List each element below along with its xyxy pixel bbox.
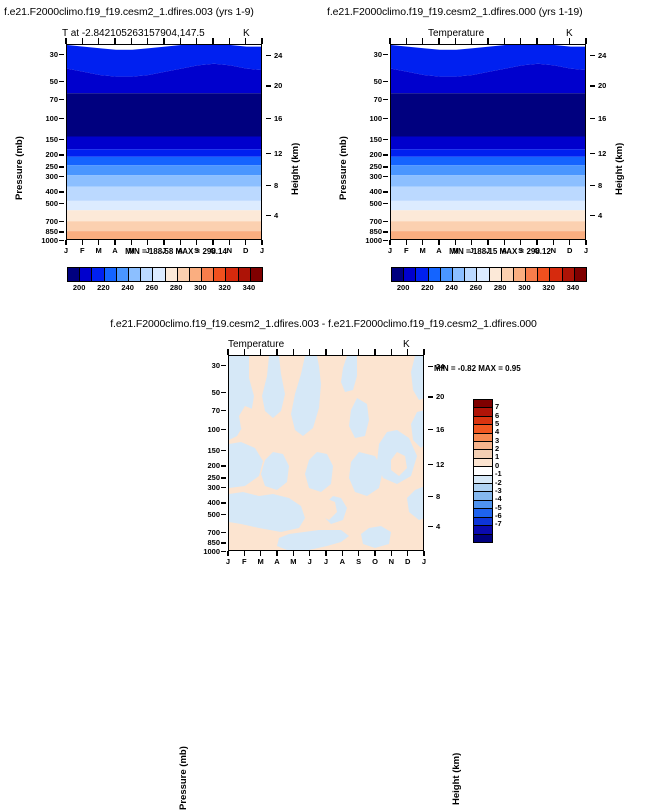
colorbar-tick-label: 300 (512, 283, 536, 292)
colorbar-cell (474, 525, 492, 533)
colorbar-cell (474, 534, 492, 542)
colorbar-cell (474, 407, 492, 415)
colorbar-tick-label: 260 (140, 283, 164, 292)
pressure-tick-mark (221, 365, 226, 366)
contour-band (67, 231, 262, 240)
pressure-tick-label: 1000 (346, 236, 382, 245)
colorbar-tick-label: 240 (440, 283, 464, 292)
pressure-tick-mark (221, 477, 226, 478)
panel-right: Temperature K Pressure (mb) Height (km) … (324, 25, 644, 300)
panel-left-colorbar-labels: 200220240260280300320340 (67, 283, 263, 295)
height-tick-label: 12 (436, 460, 444, 469)
pressure-tick-mark (59, 191, 64, 192)
top-tick-mark (147, 38, 148, 44)
pressure-tick-mark (383, 240, 388, 241)
colorbar-tick-label: 200 (391, 283, 415, 292)
month-tick-mark (438, 240, 439, 245)
colorbar-tick-label: 340 (561, 283, 585, 292)
top-tick-mark (585, 38, 586, 44)
top-tick-mark (407, 349, 408, 355)
month-tick-mark (131, 240, 132, 245)
month-tick-mark (147, 240, 148, 245)
pressure-tick-label: 300 (346, 172, 382, 181)
top-tick-mark (438, 38, 439, 44)
pressure-tick-label: 850 (346, 227, 382, 236)
colorbar-cell (513, 268, 525, 281)
pressure-tick-mark (221, 542, 226, 543)
pressure-tick-label: 850 (22, 227, 58, 236)
top-tick-mark (212, 38, 213, 44)
height-tick-label: 8 (436, 492, 440, 501)
month-tick-mark (293, 551, 294, 556)
height-tick-mark (428, 526, 433, 527)
pressure-tick-label: 400 (184, 498, 220, 507)
colorbar-cell (474, 508, 492, 516)
contour-band (67, 93, 262, 136)
pressure-tick-mark (59, 139, 64, 140)
temperature-contour-field (391, 45, 586, 240)
contour-band (67, 165, 262, 175)
colorbar-tick-label: 200 (67, 283, 91, 292)
month-label: N (384, 557, 398, 566)
pressure-tick-mark (59, 166, 64, 167)
colorbar-tick-label: 240 (116, 283, 140, 292)
pressure-tick-label: 100 (346, 114, 382, 123)
month-tick-mark (163, 240, 164, 245)
height-tick-mark (266, 153, 271, 154)
pressure-tick-label: 500 (346, 199, 382, 208)
top-tick-mark (422, 38, 423, 44)
panel-right-colorbar[interactable] (391, 267, 587, 282)
colorbar-cell (165, 268, 177, 281)
panel-diff-y2ticks: 2420161284 (428, 355, 458, 551)
colorbar-cell (440, 268, 452, 281)
month-tick-mark (389, 240, 390, 245)
contour-band (67, 157, 262, 165)
temperature-contour-field (67, 45, 262, 240)
contour-band (391, 93, 586, 136)
top-tick-mark (536, 38, 537, 44)
month-tick-mark (260, 551, 261, 556)
contour-band (391, 175, 586, 187)
pressure-tick-label: 300 (184, 483, 220, 492)
top-tick-mark (163, 38, 164, 44)
pressure-tick-mark (383, 139, 388, 140)
month-tick-mark (65, 240, 66, 245)
colorbar-tick-label: 340 (237, 283, 261, 292)
contour-band (391, 201, 586, 210)
month-label: J (303, 557, 317, 566)
contour-band (391, 221, 586, 231)
pressure-tick-mark (221, 429, 226, 430)
height-tick-label: 16 (274, 114, 282, 123)
height-tick-label: 16 (598, 114, 606, 123)
month-label: J (417, 557, 431, 566)
top-axis-ticks (66, 37, 262, 44)
panel-diff-colorbar-labels: 76543210-1-2-3-4-5-6-7 (494, 399, 518, 541)
colorbar-cell (562, 268, 574, 281)
colorbar-cell (574, 268, 586, 281)
pressure-tick-mark (383, 221, 388, 222)
month-tick-mark (325, 551, 326, 556)
panel-diff-xticks: JFMAMJJASONDJ (228, 551, 424, 567)
month-tick-mark (229, 240, 230, 245)
contour-band (391, 187, 586, 201)
pressure-tick-label: 100 (22, 114, 58, 123)
top-tick-mark (245, 38, 246, 44)
top-axis-ticks (228, 348, 424, 355)
pressure-tick-mark (59, 99, 64, 100)
pressure-tick-label: 1000 (184, 547, 220, 556)
panel-diff: f.e21.F2000climo.f19_f19.cesm2_1.dfires.… (0, 315, 647, 567)
pressure-tick-label: 150 (22, 135, 58, 144)
month-tick-mark (309, 551, 310, 556)
panel-diff-header: f.e21.F2000climo.f19_f19.cesm2_1.dfires.… (0, 318, 647, 330)
pressure-tick-mark (221, 551, 226, 552)
colorbar-cell (140, 268, 152, 281)
panel-diff-y2label: Height (km) (451, 753, 462, 805)
colorbar-cell (474, 475, 492, 483)
panel-right-colorbar-labels: 200220240260280300320340 (391, 283, 587, 295)
colorbar-cell (474, 491, 492, 499)
colorbar-cell (474, 517, 492, 525)
month-tick-mark (114, 240, 115, 245)
pressure-tick-mark (221, 465, 226, 466)
top-tick-mark (309, 349, 310, 355)
height-tick-mark (266, 185, 271, 186)
contour-band (67, 175, 262, 187)
month-tick-mark (407, 551, 408, 556)
pressure-tick-mark (221, 450, 226, 451)
panel-left-yticks: 3050701001502002503004005007008501000 (26, 44, 64, 240)
panel-right-yticks: 3050701001502002503004005007008501000 (350, 44, 388, 240)
pressure-tick-mark (221, 487, 226, 488)
month-label: A (335, 557, 349, 566)
panel-right-plot[interactable] (390, 44, 586, 240)
top-tick-mark (569, 38, 570, 44)
colorbar-tick-label: 280 (164, 283, 188, 292)
contour-band (391, 231, 586, 240)
top-tick-mark (196, 38, 197, 44)
height-tick-mark (428, 429, 433, 430)
height-tick-mark (266, 118, 271, 119)
panel-left-plot[interactable] (66, 44, 262, 240)
month-label: O (368, 557, 382, 566)
pressure-tick-mark (59, 203, 64, 204)
pressure-tick-label: 400 (346, 187, 382, 196)
colorbar-tick-label: 220 (91, 283, 115, 292)
header-title-right: f.e21.F2000climo.f19_f19.cesm2_1.dfires.… (327, 6, 583, 18)
panel-diff-minmax: MIN = -0.82 MAX = 0.95 (434, 364, 521, 373)
contour-band (391, 210, 586, 221)
colorbar-cell (489, 268, 501, 281)
pressure-tick-label: 70 (22, 95, 58, 104)
pressure-tick-label: 200 (346, 150, 382, 159)
top-tick-mark (389, 38, 390, 44)
top-tick-mark (98, 38, 99, 44)
month-tick-mark (374, 551, 375, 556)
pressure-tick-mark (221, 502, 226, 503)
month-tick-mark (227, 551, 228, 556)
header-title-left: f.e21.F2000climo.f19_f19.cesm2_1.dfires.… (4, 6, 254, 18)
pressure-tick-mark (221, 532, 226, 533)
pressure-tick-label: 70 (346, 95, 382, 104)
pressure-tick-mark (383, 176, 388, 177)
month-label: A (270, 557, 284, 566)
pressure-tick-label: 1000 (22, 236, 58, 245)
panel-left-minmax: MIN = 188.58 MAX = 298.14 (0, 247, 320, 256)
height-tick-mark (590, 153, 595, 154)
colorbar-cell (464, 268, 476, 281)
pressure-tick-label: 500 (22, 199, 58, 208)
colorbar-cell (201, 268, 213, 281)
month-label: D (401, 557, 415, 566)
colorbar-cell (428, 268, 440, 281)
top-tick-mark (406, 38, 407, 44)
pressure-tick-label: 30 (346, 50, 382, 59)
month-tick-mark (212, 240, 213, 245)
top-tick-mark (114, 38, 115, 44)
pressure-tick-label: 700 (184, 528, 220, 537)
height-tick-label: 4 (436, 522, 440, 531)
pressure-tick-mark (221, 410, 226, 411)
panel-right-minmax: MIN = 188.15 MAX = 298.12 (324, 247, 644, 256)
pressure-tick-mark (59, 118, 64, 119)
height-tick-mark (266, 85, 271, 86)
colorbar-tick-label: 320 (537, 283, 561, 292)
pressure-tick-label: 200 (184, 461, 220, 470)
top-tick-mark (276, 349, 277, 355)
colorbar-cell (474, 500, 492, 508)
month-tick-mark (569, 240, 570, 245)
colorbar-cell (91, 268, 103, 281)
pressure-tick-label: 30 (184, 361, 220, 370)
pressure-tick-mark (383, 54, 388, 55)
height-tick-mark (266, 215, 271, 216)
colorbar-cell (415, 268, 427, 281)
panel-left-colorbar[interactable] (67, 267, 263, 282)
colorbar-cell (403, 268, 415, 281)
colorbar-cell (474, 433, 492, 441)
top-tick-mark (244, 349, 245, 355)
top-tick-mark (391, 349, 392, 355)
panel-right-y2ticks: 2420161284 (590, 44, 620, 240)
panel-left: T at -2.842105263157904,147.5 K Pressure… (0, 25, 320, 300)
month-label: M (254, 557, 268, 566)
colorbar-tick-label: 320 (213, 283, 237, 292)
pressure-tick-mark (383, 166, 388, 167)
height-tick-label: 16 (436, 425, 444, 434)
contour-band (67, 221, 262, 231)
contour-band (391, 165, 586, 175)
colorbar-cell (250, 268, 262, 281)
top-tick-mark (520, 38, 521, 44)
height-tick-label: 4 (598, 211, 602, 220)
pressure-tick-label: 250 (184, 473, 220, 482)
pressure-tick-mark (59, 221, 64, 222)
top-tick-mark (131, 38, 132, 44)
colorbar-cell (476, 268, 488, 281)
pressure-tick-mark (59, 81, 64, 82)
panel-diff-plot[interactable] (228, 355, 424, 551)
month-tick-mark (82, 240, 83, 245)
colorbar-tick-label: 300 (188, 283, 212, 292)
colorbar-cell (474, 466, 492, 474)
height-tick-mark (590, 118, 595, 119)
height-tick-label: 8 (274, 181, 278, 190)
top-tick-mark (374, 349, 375, 355)
height-tick-label: 24 (274, 51, 282, 60)
top-tick-mark (553, 38, 554, 44)
pressure-tick-label: 700 (22, 217, 58, 226)
month-tick-mark (276, 551, 277, 556)
contour-band (67, 137, 262, 150)
colorbar-cell (213, 268, 225, 281)
height-tick-mark (266, 55, 271, 56)
top-tick-mark (358, 349, 359, 355)
pressure-tick-label: 200 (22, 150, 58, 159)
contour-band (67, 201, 262, 210)
pressure-tick-mark (221, 514, 226, 515)
height-tick-mark (590, 185, 595, 186)
colorbar-tick-label: 220 (415, 283, 439, 292)
colorbar-cell (474, 449, 492, 457)
height-tick-mark (428, 496, 433, 497)
colorbar-cell (474, 400, 492, 407)
month-tick-mark (423, 551, 424, 556)
colorbar-cell (104, 268, 116, 281)
height-tick-label: 4 (274, 211, 278, 220)
colorbar-cell (392, 268, 403, 281)
pressure-tick-label: 50 (22, 77, 58, 86)
month-label: S (352, 557, 366, 566)
pressure-tick-label: 50 (184, 388, 220, 397)
colorbar-cell (189, 268, 201, 281)
contour-band (391, 157, 586, 165)
panel-diff-yticks: 3050701001502002503004005007008501000 (188, 355, 226, 551)
colorbar-cell (474, 458, 492, 466)
pressure-tick-mark (383, 118, 388, 119)
top-tick-mark (260, 349, 261, 355)
month-label: F (237, 557, 251, 566)
colorbar-cell (452, 268, 464, 281)
colorbar-cell (116, 268, 128, 281)
month-tick-mark (342, 551, 343, 556)
top-tick-mark (180, 38, 181, 44)
colorbar-cell (525, 268, 537, 281)
top-tick-mark (471, 38, 472, 44)
pressure-tick-label: 150 (184, 446, 220, 455)
month-label: J (221, 557, 235, 566)
month-label: J (319, 557, 333, 566)
pressure-tick-mark (59, 54, 64, 55)
top-tick-mark (423, 349, 424, 355)
pressure-tick-mark (59, 231, 64, 232)
month-tick-mark (244, 551, 245, 556)
pressure-tick-label: 250 (346, 162, 382, 171)
contour-band (67, 149, 262, 157)
height-tick-label: 8 (598, 181, 602, 190)
month-tick-mark (422, 240, 423, 245)
pressure-tick-mark (221, 392, 226, 393)
colorbar-cell (79, 268, 91, 281)
pressure-tick-label: 150 (346, 135, 382, 144)
colorbar-cell (128, 268, 140, 281)
diff-contour-field (229, 356, 424, 551)
month-tick-mark (455, 240, 456, 245)
height-tick-mark (428, 396, 433, 397)
colorbar-cell (474, 424, 492, 432)
pressure-tick-label: 500 (184, 510, 220, 519)
colorbar-cell (549, 268, 561, 281)
colorbar-cell (501, 268, 513, 281)
colorbar-tick-label: 260 (464, 283, 488, 292)
pressure-tick-label: 70 (184, 406, 220, 415)
contour-band (67, 187, 262, 201)
panel-diff-colorbar[interactable] (473, 399, 493, 543)
pressure-tick-label: 30 (22, 50, 58, 59)
top-axis-ticks (390, 37, 586, 44)
colorbar-cell (474, 441, 492, 449)
month-tick-mark (358, 551, 359, 556)
height-tick-label: 12 (274, 149, 282, 158)
pressure-tick-mark (59, 176, 64, 177)
colorbar-cell (152, 268, 164, 281)
month-tick-mark (180, 240, 181, 245)
month-tick-mark (196, 240, 197, 245)
top-tick-mark (229, 38, 230, 44)
pressure-tick-mark (383, 99, 388, 100)
colorbar-cell (225, 268, 237, 281)
month-tick-mark (520, 240, 521, 245)
pressure-tick-mark (383, 154, 388, 155)
month-tick-mark (585, 240, 586, 245)
month-tick-mark (471, 240, 472, 245)
month-tick-mark (536, 240, 537, 245)
pressure-tick-label: 250 (22, 162, 58, 171)
colorbar-tick-label: -7 (495, 519, 502, 528)
pressure-tick-mark (59, 240, 64, 241)
pressure-tick-label: 300 (22, 172, 58, 181)
panel-diff-ylabel: Pressure (mb) (178, 746, 189, 810)
height-tick-label: 24 (598, 51, 606, 60)
contour-band (391, 149, 586, 157)
height-tick-mark (428, 366, 433, 367)
top-tick-mark (227, 349, 228, 355)
month-tick-mark (553, 240, 554, 245)
colorbar-tick-label: 280 (488, 283, 512, 292)
pressure-tick-label: 850 (184, 538, 220, 547)
height-tick-mark (590, 215, 595, 216)
top-tick-mark (455, 38, 456, 44)
pressure-tick-mark (383, 231, 388, 232)
top-tick-mark (293, 349, 294, 355)
height-tick-label: 12 (598, 149, 606, 158)
month-tick-mark (487, 240, 488, 245)
month-tick-mark (98, 240, 99, 245)
top-tick-mark (487, 38, 488, 44)
colorbar-cell (474, 483, 492, 491)
panel-left-y2ticks: 2420161284 (266, 44, 296, 240)
height-tick-label: 20 (274, 81, 282, 90)
pressure-tick-label: 50 (346, 77, 382, 86)
month-tick-mark (504, 240, 505, 245)
contour-band (67, 210, 262, 221)
month-tick-mark (261, 240, 262, 245)
pressure-tick-mark (383, 191, 388, 192)
colorbar-cell (537, 268, 549, 281)
top-tick-mark (65, 38, 66, 44)
